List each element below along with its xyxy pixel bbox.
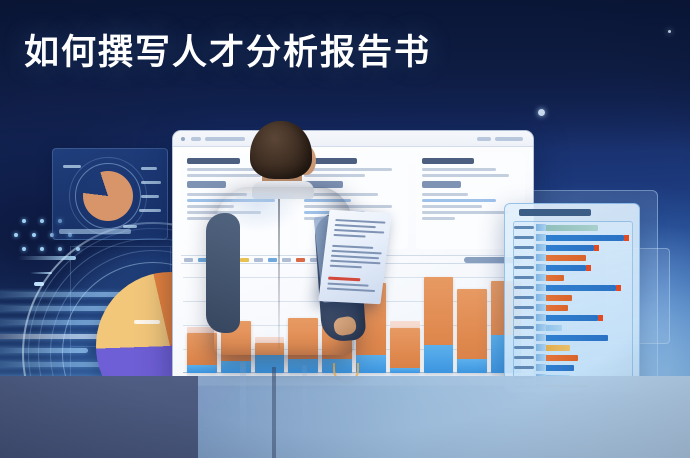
poster-canvas: 如何撰写人才分析报告书	[0, 0, 690, 458]
page-title: 如何撰写人才分析报告书	[24, 36, 431, 71]
